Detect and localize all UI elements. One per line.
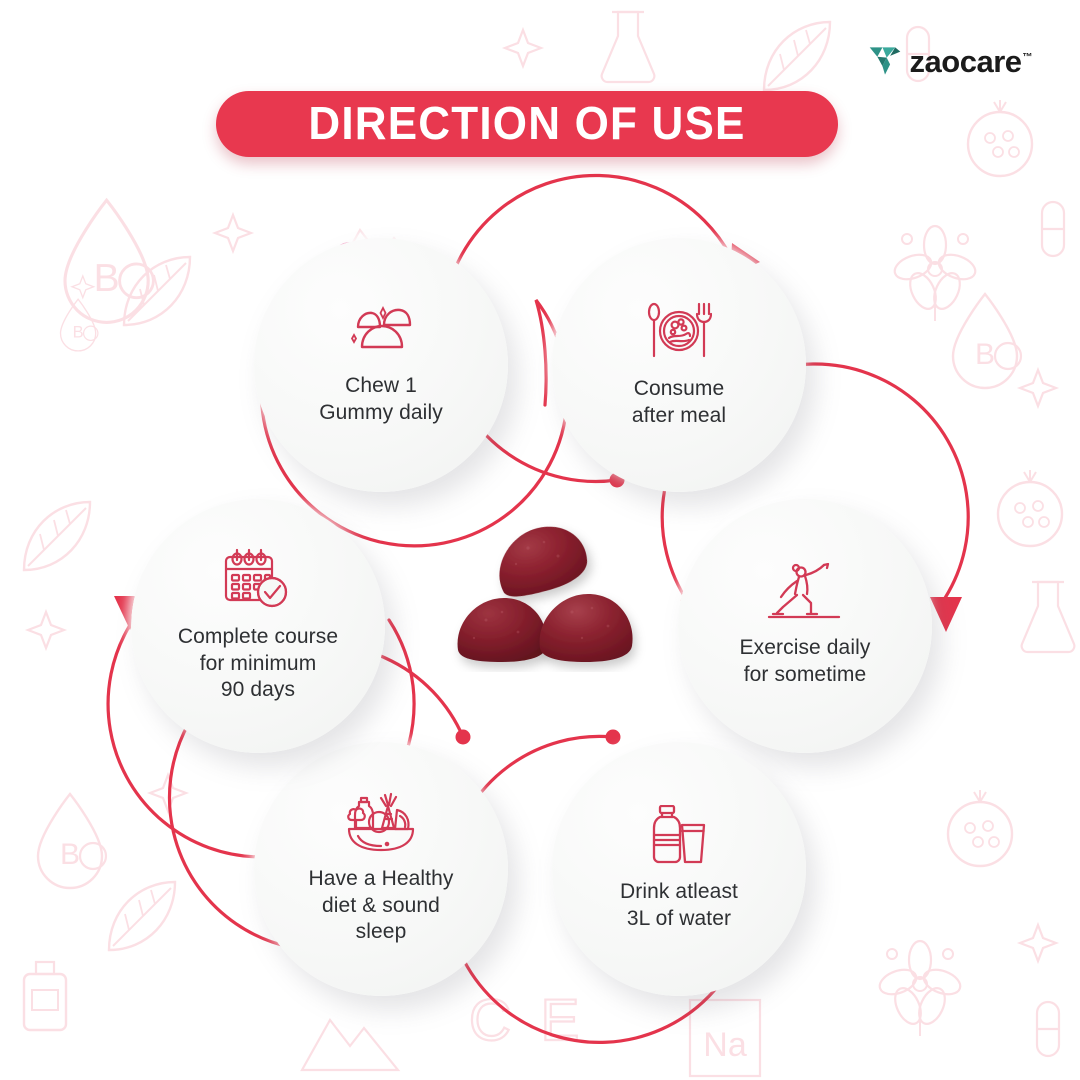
brand-name-text: zaocare [910, 44, 1022, 79]
product-gummies-image [440, 512, 648, 672]
calendar-check-icon [224, 548, 292, 610]
step-label-2: Consume after meal [632, 376, 726, 430]
step-bubble-chew-gummy[interactable]: Chew 1 Gummy daily [254, 238, 508, 492]
page-title: DIRECTION OF USE [308, 101, 745, 148]
step-label-line: Gummy daily [319, 400, 443, 427]
step-label-line: Exercise daily [740, 635, 871, 662]
step-label-line: Consume [632, 376, 726, 403]
gummy-domes-icon [342, 303, 420, 359]
step-label-3: Exercise daily for sometime [740, 635, 871, 689]
step-label-line: Chew 1 [319, 373, 443, 400]
page-title-banner: DIRECTION OF USE [216, 91, 838, 157]
water-bottle-glass-icon [646, 805, 712, 865]
plate-cutlery-icon [646, 300, 712, 362]
step-label-line: 90 days [178, 677, 338, 704]
step-bubble-complete-course[interactable]: Complete course for minimum 90 days [131, 499, 385, 753]
arrowhead-step-3 [930, 597, 962, 632]
step-label-line: Drink atleast [620, 879, 738, 906]
step-label-line: after meal [632, 403, 726, 430]
healthy-food-bowl-icon [344, 792, 418, 852]
step-label-5: Have a Healthy diet & sound sleep [309, 866, 454, 947]
brand-wordmark: zaocare™ [910, 46, 1032, 77]
step-bubble-exercise-daily[interactable]: Exercise daily for sometime [678, 499, 932, 753]
step-label-line: Have a Healthy [309, 866, 454, 893]
step-label-line: for sometime [740, 662, 871, 689]
step-bubble-healthy-diet[interactable]: Have a Healthy diet & sound sleep [254, 742, 508, 996]
step-label-4: Drink atleast 3L of water [620, 879, 738, 933]
step-label-1: Chew 1 Gummy daily [319, 373, 443, 427]
step-bubble-drink-water[interactable]: Drink atleast 3L of water [552, 742, 806, 996]
step-label-line: Complete course [178, 624, 338, 651]
step-label-line: diet & sound [309, 893, 454, 920]
brand-logo: zaocare™ [868, 44, 1032, 78]
origami-bird-icon [868, 44, 902, 78]
step-bubble-consume-after-meal[interactable]: Consume after meal [552, 238, 806, 492]
step-label-line: for minimum [178, 651, 338, 678]
step-label-line: sleep [309, 919, 454, 946]
arc-dot-step-5 [456, 730, 471, 745]
arc-dot-step-4 [606, 730, 621, 745]
yoga-exercise-icon [765, 563, 845, 621]
step-label-line: 3L of water [620, 906, 738, 933]
step-label-6: Complete course for minimum 90 days [178, 624, 338, 705]
trademark-symbol: ™ [1023, 52, 1033, 63]
